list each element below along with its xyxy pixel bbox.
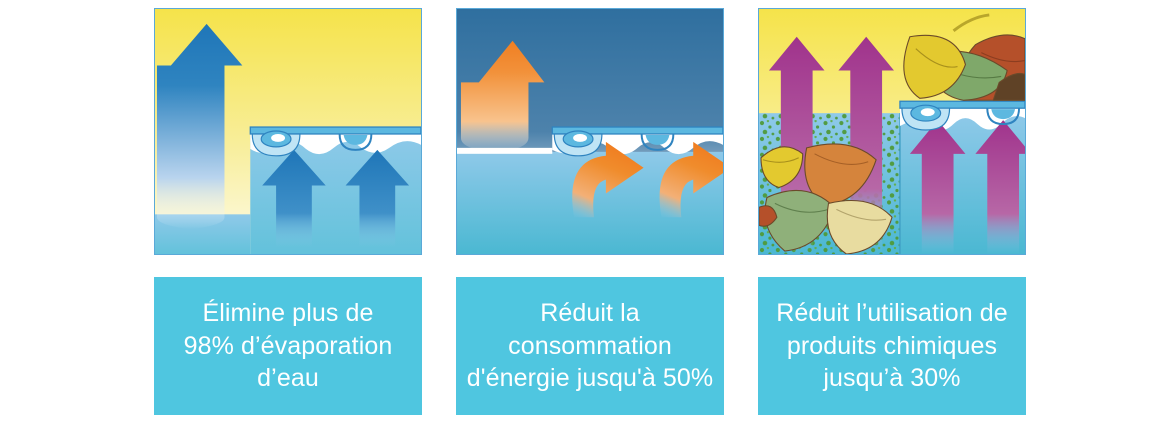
panel-evaporation-illustration (155, 9, 421, 254)
infographic-root: Élimine plus de 98% d’évaporation d’eau (0, 0, 1158, 443)
caption-line: consommation (467, 330, 714, 363)
panel-evaporation-frame (154, 8, 422, 255)
caption-energy: Réduit la consommation d'énergie jusqu'à… (456, 277, 724, 415)
cover-float-roller (902, 105, 950, 130)
caption-line: Élimine plus de (184, 297, 393, 330)
cover-float-roller (252, 131, 300, 156)
caption-line: Réduit la (467, 297, 714, 330)
panel-evaporation (154, 8, 422, 255)
caption-energy-text: Réduit la consommation d'énergie jusqu'à… (467, 297, 714, 395)
panel-chemicals-frame (758, 8, 1026, 255)
caption-chemicals-text: Réduit l’utilisation de produits chimiqu… (776, 297, 1008, 395)
panel-energy (456, 8, 724, 255)
caption-line: produits chimiques (776, 330, 1008, 363)
panel-chemicals (758, 8, 1026, 255)
caption-chemicals: Réduit l’utilisation de produits chimiqu… (758, 277, 1026, 415)
caption-line: d'énergie jusqu'à 50% (467, 362, 714, 395)
caption-evaporation: Élimine plus de 98% d’évaporation d’eau (154, 277, 422, 415)
caption-evaporation-text: Élimine plus de 98% d’évaporation d’eau (184, 297, 393, 395)
panel-energy-illustration (457, 9, 723, 254)
caption-line: Réduit l’utilisation de (776, 297, 1008, 330)
panel-chemicals-illustration (759, 9, 1025, 254)
caption-line: 98% d’évaporation (184, 330, 393, 363)
caption-line: jusqu’à 30% (776, 362, 1008, 395)
caption-line: d’eau (184, 362, 393, 395)
panel-energy-frame (456, 8, 724, 255)
cover-float-roller (554, 131, 602, 156)
